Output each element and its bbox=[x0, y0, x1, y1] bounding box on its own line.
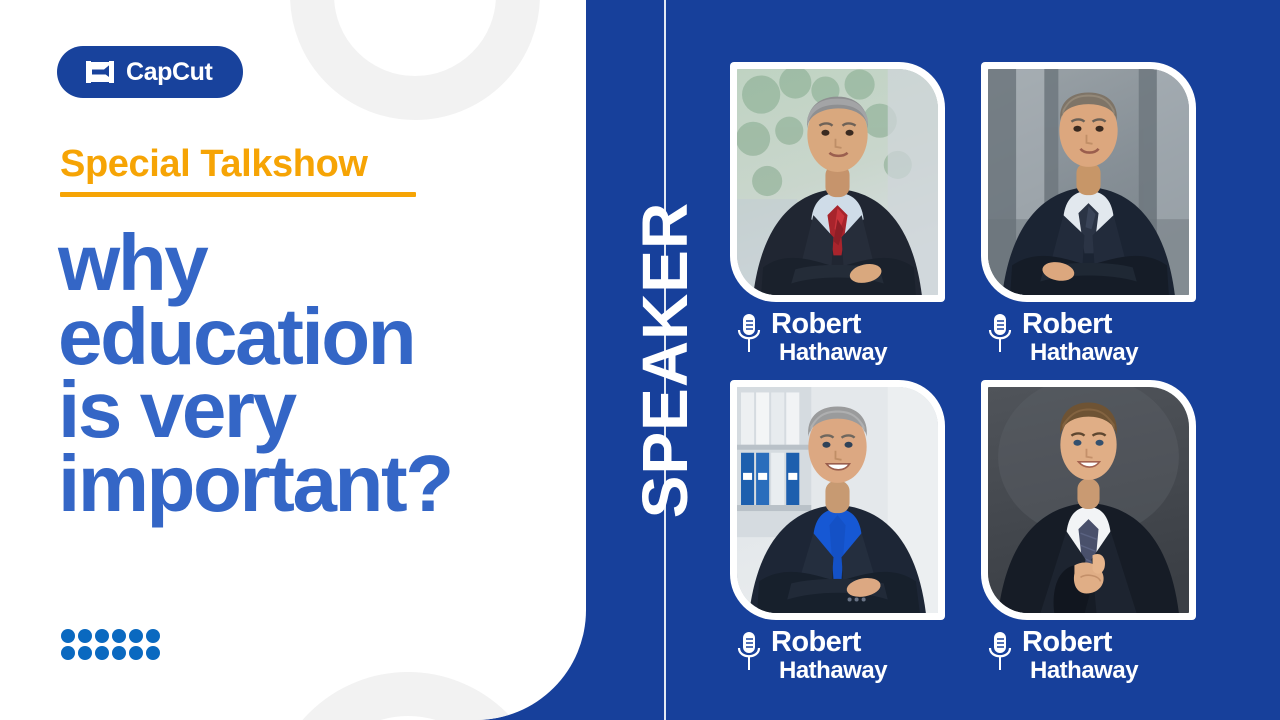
headline-line-2: education bbox=[58, 300, 568, 374]
speaker-first-name: Robert bbox=[1022, 310, 1138, 340]
speaker-photo-frame bbox=[730, 380, 945, 620]
speaker-first-name: Robert bbox=[771, 628, 887, 658]
speaker-card[interactable]: Robert Hathaway bbox=[981, 62, 1196, 314]
speaker-card[interactable]: Robert Hathaway bbox=[981, 380, 1196, 632]
microphone-icon bbox=[736, 631, 762, 671]
speaker-photo-4 bbox=[988, 387, 1189, 613]
speaker-photo-frame bbox=[981, 380, 1196, 620]
dot bbox=[95, 646, 109, 660]
speaker-first-name: Robert bbox=[771, 310, 887, 340]
speaker-last-name: Hathaway bbox=[779, 658, 887, 684]
speaker-grid: Robert Hathaway bbox=[730, 62, 1210, 682]
speaker-photo-frame bbox=[730, 62, 945, 302]
microphone-icon bbox=[736, 313, 762, 353]
microphone-icon bbox=[987, 631, 1013, 671]
headline-line-4: important? bbox=[58, 447, 568, 521]
eyebrow-text: Special Talkshow bbox=[60, 144, 416, 185]
speaker-photo-3 bbox=[737, 387, 938, 613]
speaker-card[interactable]: Robert Hathaway bbox=[730, 62, 945, 314]
headline-line-1: why bbox=[58, 226, 568, 300]
decorative-dot-grid bbox=[61, 629, 160, 660]
speaker-photo-1 bbox=[737, 69, 938, 295]
speaker-last-name: Hathaway bbox=[1030, 340, 1138, 366]
speaker-card[interactable]: Robert Hathaway bbox=[730, 380, 945, 632]
dot bbox=[129, 629, 143, 643]
capcut-logo-icon bbox=[85, 61, 115, 83]
dot bbox=[61, 629, 75, 643]
capcut-brand-badge[interactable]: CapCut bbox=[57, 46, 243, 98]
speaker-name: Robert Hathaway bbox=[771, 310, 887, 366]
dot bbox=[129, 646, 143, 660]
microphone-icon bbox=[987, 313, 1013, 353]
dot bbox=[95, 629, 109, 643]
speaker-name: Robert Hathaway bbox=[1022, 310, 1138, 366]
speaker-name: Robert Hathaway bbox=[1022, 628, 1138, 684]
speaker-photo-frame bbox=[981, 62, 1196, 302]
dot bbox=[112, 646, 126, 660]
speaker-name-row: Robert Hathaway bbox=[736, 310, 887, 366]
eyebrow-group: Special Talkshow bbox=[60, 144, 416, 197]
speaker-name-row: Robert Hathaway bbox=[987, 628, 1138, 684]
dot bbox=[78, 629, 92, 643]
eyebrow-underline bbox=[60, 192, 416, 197]
speaker-first-name: Robert bbox=[1022, 628, 1138, 658]
dot bbox=[61, 646, 75, 660]
decorative-ring-bottom bbox=[268, 672, 548, 720]
headline-line-3: is very bbox=[58, 373, 568, 447]
dot bbox=[78, 646, 92, 660]
dot bbox=[146, 646, 160, 660]
capcut-label: CapCut bbox=[126, 60, 212, 85]
speaker-name-row: Robert Hathaway bbox=[736, 628, 887, 684]
slide-canvas: CapCut Special Talkshow why education is… bbox=[0, 0, 1280, 720]
dot bbox=[112, 629, 126, 643]
dot bbox=[146, 629, 160, 643]
speaker-name: Robert Hathaway bbox=[771, 628, 887, 684]
decorative-ring-top bbox=[290, 0, 540, 120]
page-title: why education is very important? bbox=[58, 226, 568, 520]
speaker-last-name: Hathaway bbox=[1030, 658, 1138, 684]
speaker-last-name: Hathaway bbox=[779, 340, 887, 366]
speaker-rail-label: SPEAKER bbox=[633, 202, 697, 518]
speaker-photo-2 bbox=[988, 69, 1189, 295]
speaker-name-row: Robert Hathaway bbox=[987, 310, 1138, 366]
speaker-rail: SPEAKER bbox=[620, 0, 710, 720]
